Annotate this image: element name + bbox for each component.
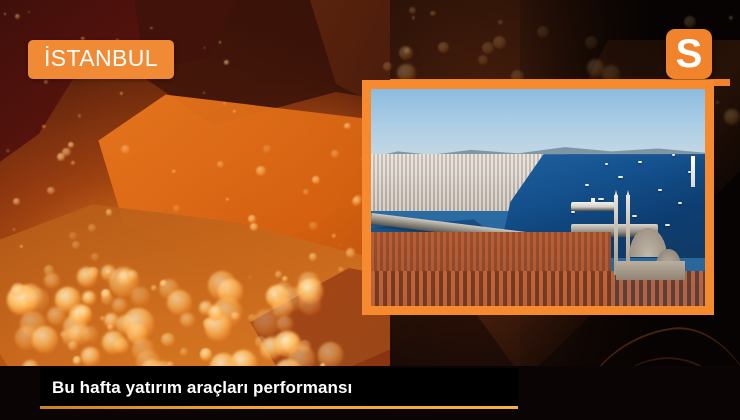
photo-frame (362, 80, 714, 315)
city-badge: İSTANBUL (28, 40, 174, 79)
caption-underline (40, 406, 518, 409)
caption-headline: Bu hafta yatırım araçları performansı (52, 378, 352, 398)
photo-haze-overlay (371, 89, 705, 306)
news-card: İSTANBUL S (0, 0, 740, 420)
istanbul-photo (371, 89, 705, 306)
brand-logo-s[interactable]: S (666, 29, 712, 79)
